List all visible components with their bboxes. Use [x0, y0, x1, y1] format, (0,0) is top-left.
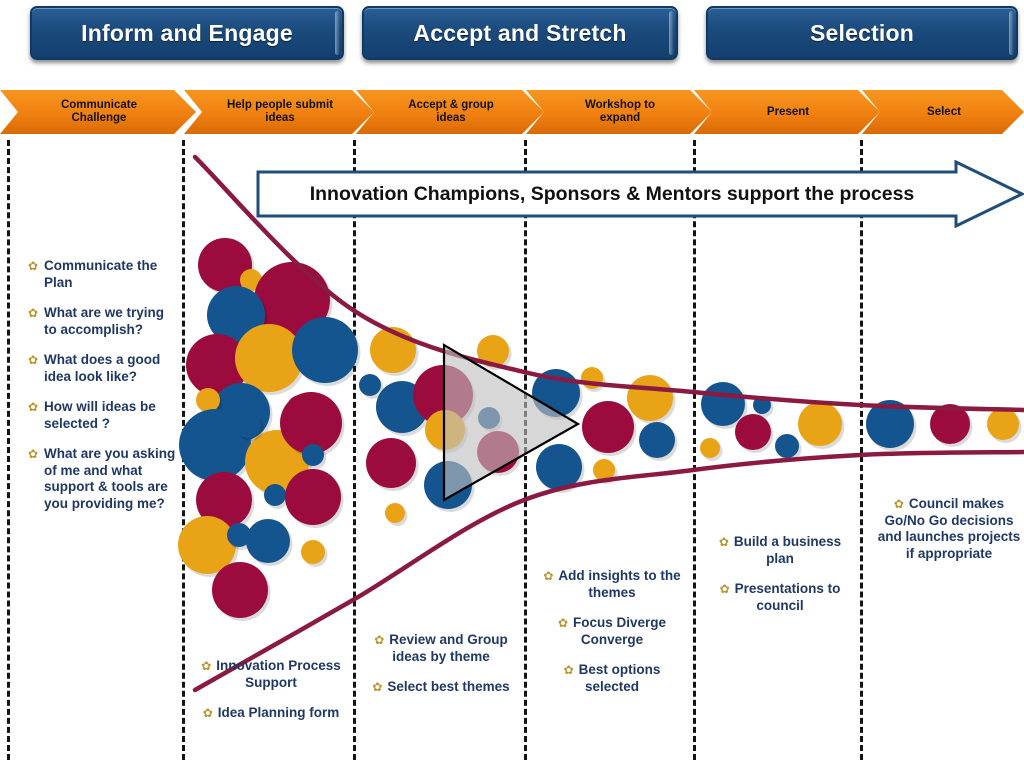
note-bullet: Communicate the Plan	[28, 258, 178, 291]
idea-bubble	[235, 412, 261, 438]
idea-bubble	[639, 422, 675, 458]
idea-bubble	[302, 444, 324, 466]
notes-select: Council makes Go/No Go decisions and lau…	[874, 496, 1024, 576]
idea-bubble	[775, 434, 799, 458]
note-bullet: How will ideas be selected ?	[28, 399, 178, 432]
note-bullet: Best options selected	[536, 662, 688, 695]
idea-bubble	[798, 402, 842, 446]
idea-bubble	[301, 540, 325, 564]
note-bullet: Idea Planning form	[196, 705, 346, 722]
note-bullet: Innovation Process Support	[196, 658, 346, 691]
note-bullet: What are you asking of me and what suppo…	[28, 446, 178, 512]
idea-bubble	[627, 375, 673, 421]
support-banner-label: Innovation Champions, Sponsors & Mentors…	[262, 160, 962, 228]
idea-bubble	[700, 438, 720, 458]
idea-bubble	[292, 317, 358, 383]
note-bullet: Add insights to the themes	[536, 568, 688, 601]
idea-bubble	[359, 374, 381, 396]
idea-bubble	[196, 388, 220, 412]
idea-bubble	[246, 519, 290, 563]
notes-present: Build a business plan Presentations to c…	[706, 534, 854, 628]
note-bullet: Review and Group ideas by theme	[366, 632, 516, 665]
idea-bubble	[701, 382, 745, 426]
notes-help-people-submit-ideas: Innovation Process Support Idea Planning…	[196, 658, 346, 736]
note-bullet: What are we trying to accomplish?	[28, 305, 178, 338]
idea-bubble	[212, 562, 268, 618]
idea-bubble	[285, 469, 341, 525]
diagram-canvas: Inform and Engage Accept and Stretch Sel…	[0, 0, 1024, 768]
note-bullet: Presentations to council	[706, 581, 854, 614]
idea-bubble	[987, 408, 1019, 440]
note-bullet: Council makes Go/No Go decisions and lau…	[874, 496, 1024, 562]
notes-accept-and-group-ideas: Review and Group ideas by theme Select b…	[366, 632, 516, 710]
idea-bubble	[264, 484, 286, 506]
note-bullet: Select best themes	[366, 679, 516, 696]
note-bullet: What does a good idea look like?	[28, 352, 178, 385]
note-bullet: Build a business plan	[706, 534, 854, 567]
idea-bubble	[366, 438, 416, 488]
idea-bubble	[582, 401, 634, 453]
idea-bubble	[735, 414, 771, 450]
idea-bubble	[385, 503, 405, 523]
notes-workshop-to-expand: Add insights to the themes Focus Diverge…	[536, 568, 688, 709]
idea-bubble	[235, 324, 303, 392]
notes-communicate-challenge: Communicate the Plan What are we trying …	[28, 258, 178, 526]
note-bullet: Focus Diverge Converge	[536, 615, 688, 648]
